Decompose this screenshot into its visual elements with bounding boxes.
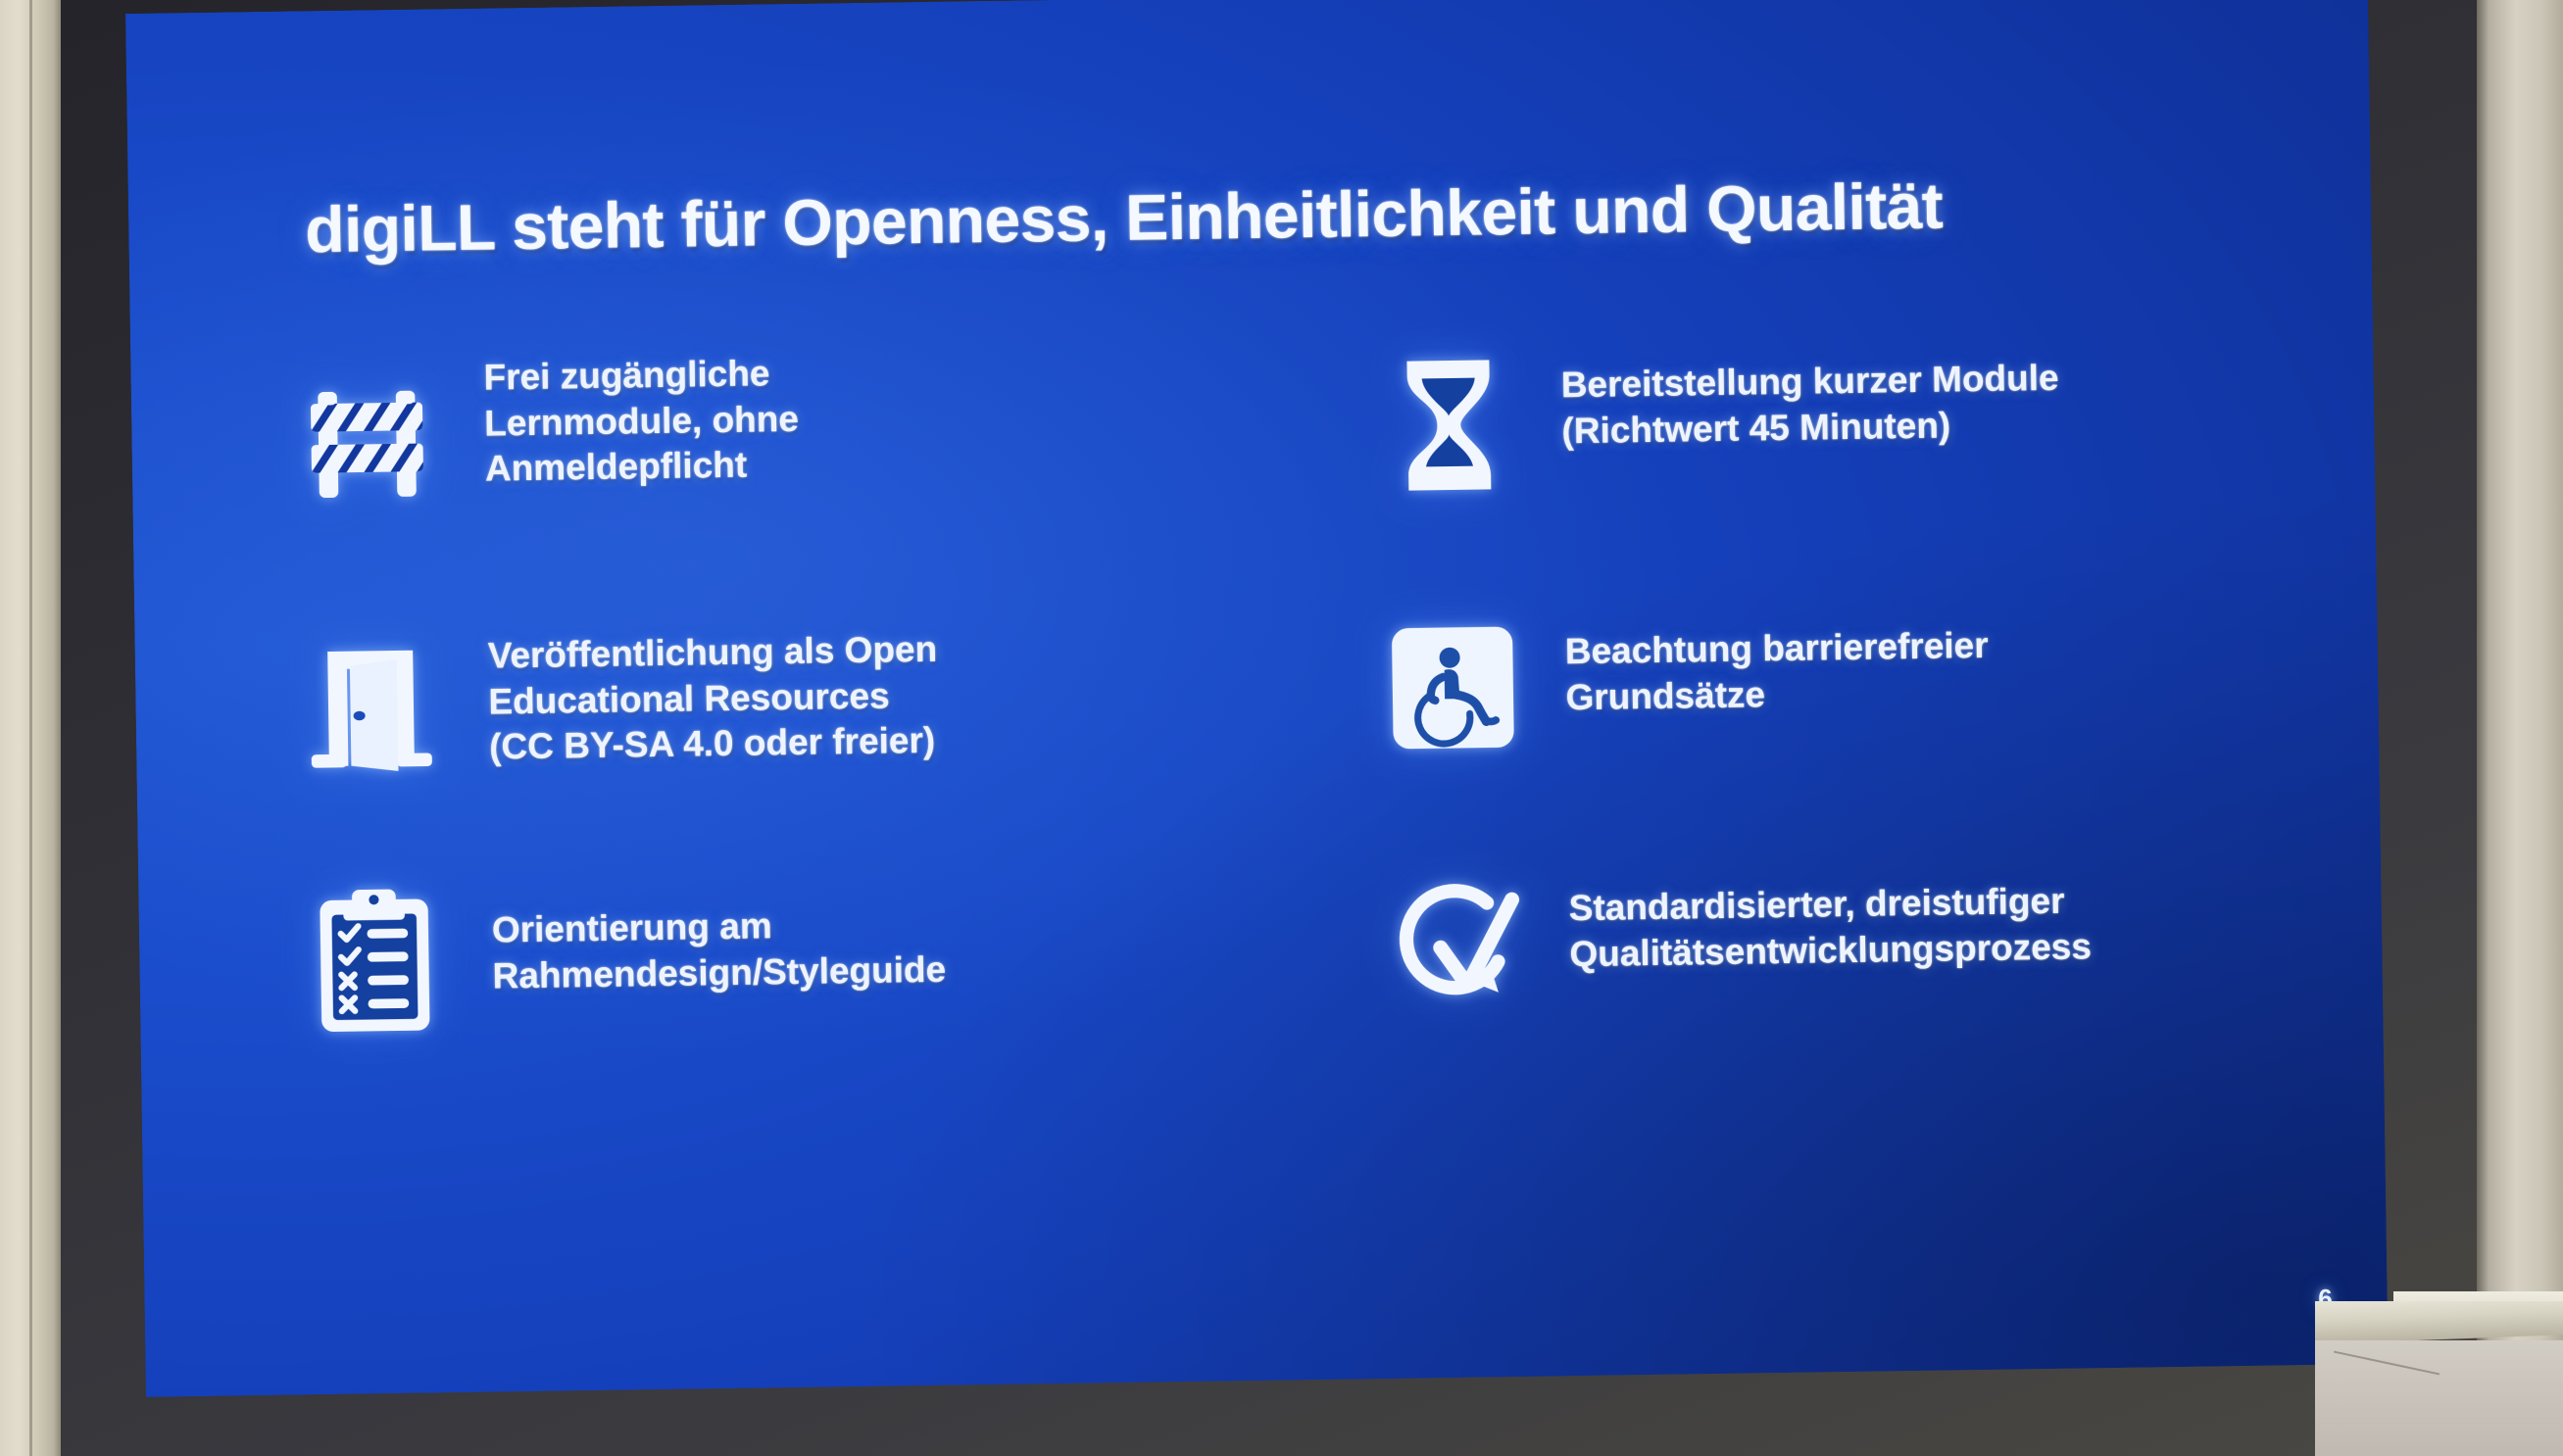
feature-text: Frei zugängliche Lernmodule, ohne Anmeld…: [483, 330, 1241, 492]
feature-text: Beachtung barrierefreier Grundsätze: [1564, 577, 2292, 720]
hourglass-icon: [1335, 325, 1563, 524]
flipchart-foreground-object: [2315, 1301, 2563, 1456]
feature-grid: Frei zugängliche Lernmodule, ohne Anmeld…: [248, 315, 2298, 1121]
feature-text: Standardisierter, dreistufiger Qualitäts…: [1568, 834, 2296, 977]
feature-text: Veröffentlichung als Open Educational Re…: [487, 593, 1245, 770]
wall-left: [0, 0, 61, 1456]
flipchart-top-rail: [2315, 1301, 2563, 1344]
wall-right: [2477, 0, 2563, 1456]
feature-item-styleguide: Orientierung am Rahmendesign/Styleguide: [256, 849, 1251, 1121]
open-door-icon: [252, 605, 490, 804]
road-barrier-icon: [248, 342, 486, 542]
room-background: digiLL steht für Openness, Einheitlichke…: [0, 0, 2563, 1456]
feature-item-free-access: Frei zugängliche Lernmodule, ohne Anmeld…: [248, 330, 1243, 607]
feature-item-short-modules: Bereitstellung kurzer Module (Richtwert …: [1296, 315, 2291, 592]
wall-seam: [29, 0, 32, 1456]
feature-item-open-publication: Veröffentlichung als Open Educational Re…: [252, 593, 1247, 864]
circular-arrow-check-icon: [1343, 845, 1571, 1043]
slide-content: digiLL steht für Openness, Einheitlichke…: [125, 0, 2389, 1397]
flipchart-paper: [2315, 1340, 2563, 1456]
feature-item-quality-process: Standardisierter, dreistufiger Qualitäts…: [1304, 834, 2298, 1105]
wheelchair-accessibility-icon: [1339, 588, 1567, 787]
clipboard-checklist-icon: [256, 861, 494, 1061]
projected-slide: digiLL steht für Openness, Einheitlichke…: [125, 0, 2389, 1397]
feature-item-accessibility: Beachtung barrierefreier Grundsätze: [1300, 577, 2294, 849]
feature-text: Orientierung am Rahmendesign/Styleguide: [491, 849, 1249, 999]
page-title: digiLL steht für Openness, Einheitlichke…: [305, 169, 1944, 267]
feature-text: Bereitstellung kurzer Module (Richtwert …: [1560, 315, 2289, 454]
